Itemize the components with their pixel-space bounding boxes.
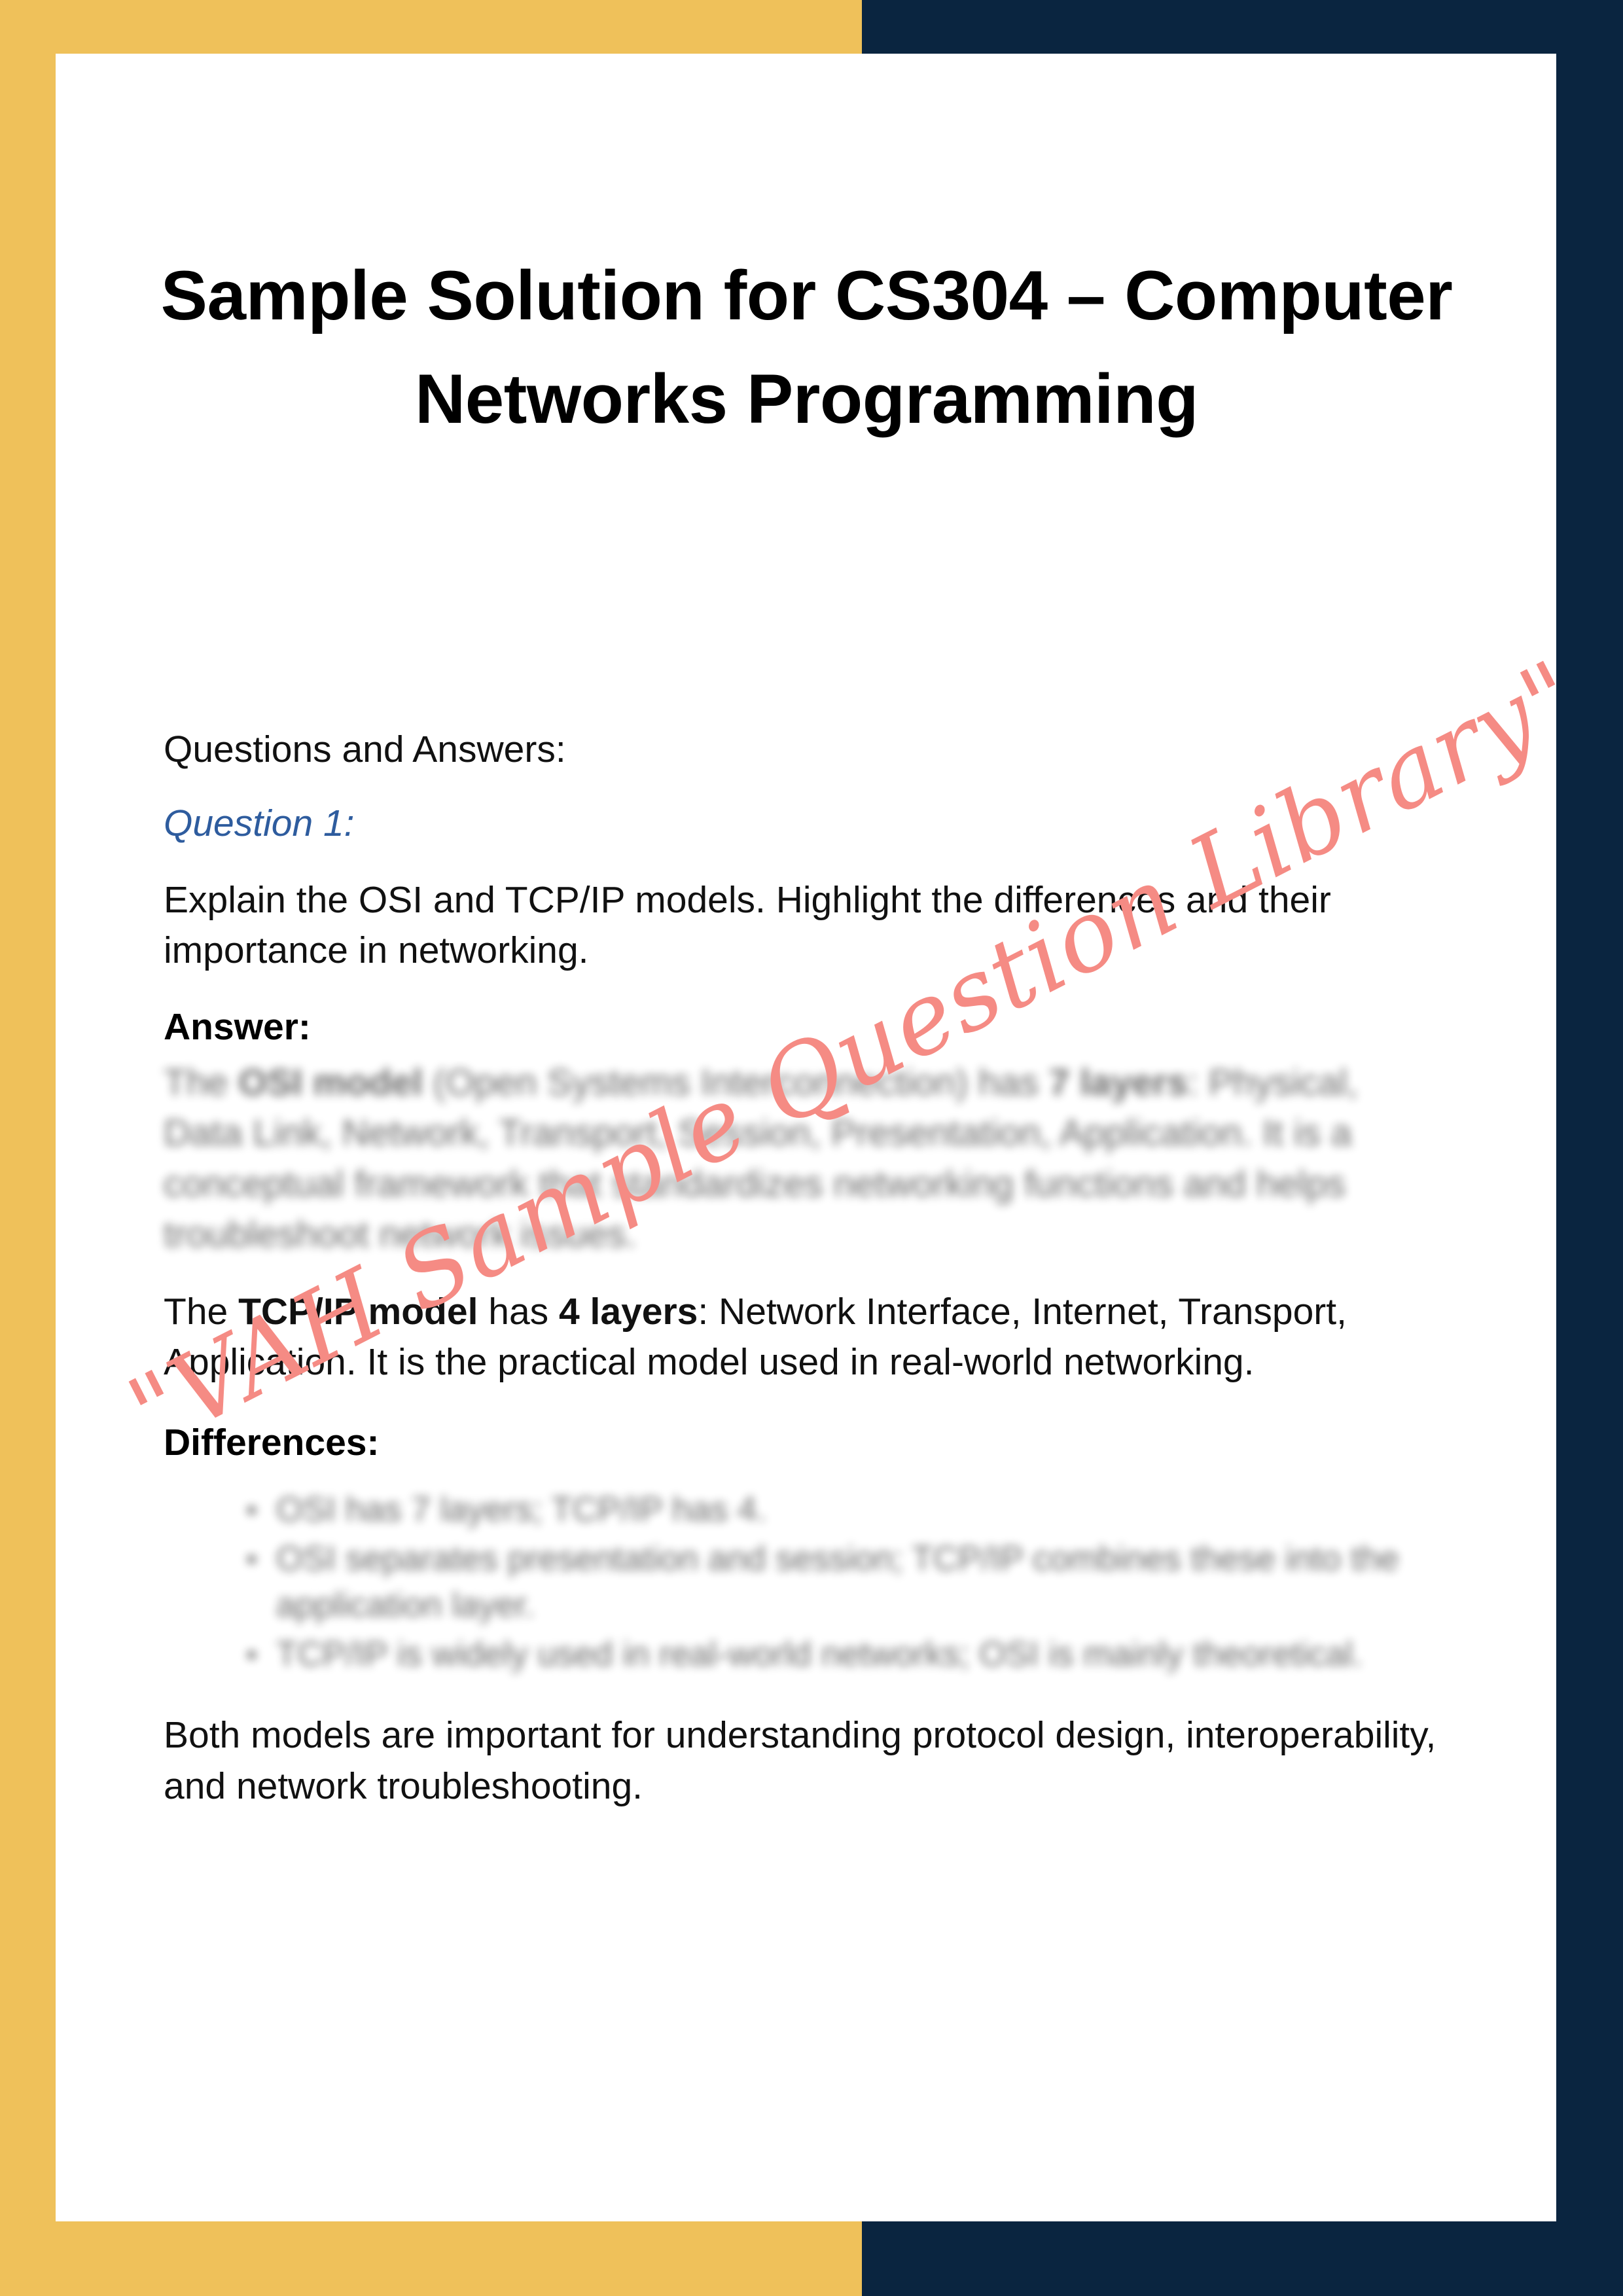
list-item: OSI separates presentation and session; …	[276, 1535, 1446, 1628]
intro-text: Questions and Answers:	[164, 725, 1446, 776]
answer-paragraph-osi: The OSI model (Open Systems Interconnect…	[164, 1058, 1446, 1261]
answer-paragraph-tcpip: The TCP/IP model has 4 layers: Network I…	[164, 1287, 1446, 1388]
closing-paragraph: Both models are important for understand…	[164, 1710, 1446, 1812]
tcpip-bold-model: TCP/IP model	[238, 1291, 478, 1333]
list-item: OSI has 7 layers; TCP/IP has 4.	[276, 1486, 1446, 1533]
page-title: Sample Solution for CS304 – Computer Net…	[134, 243, 1479, 451]
tcpip-prefix: The	[164, 1291, 238, 1333]
differences-list: OSI has 7 layers; TCP/IP has 4. OSI sepa…	[164, 1486, 1446, 1677]
answer-heading: Answer:	[164, 1003, 1446, 1051]
paper-sheet: Sample Solution for CS304 – Computer Net…	[56, 54, 1556, 2221]
osi-bold-layers: 7 layers	[1049, 1062, 1188, 1103]
tcpip-mid: has	[478, 1291, 559, 1333]
document-page: Sample Solution for CS304 – Computer Net…	[0, 0, 1623, 2296]
list-item: TCP/IP is widely used in real-world netw…	[276, 1631, 1446, 1677]
tcpip-bold-layers: 4 layers	[559, 1291, 698, 1333]
question-label: Question 1:	[164, 799, 1446, 848]
differences-heading: Differences:	[164, 1418, 1446, 1467]
question-text: Explain the OSI and TCP/IP models. Highl…	[164, 875, 1446, 977]
osi-prefix: The	[164, 1062, 238, 1103]
document-body: Questions and Answers: Question 1: Expla…	[164, 725, 1446, 1838]
osi-mid: (Open Systems Interconnection) has	[423, 1062, 1049, 1103]
osi-bold-model: OSI model	[238, 1062, 423, 1103]
